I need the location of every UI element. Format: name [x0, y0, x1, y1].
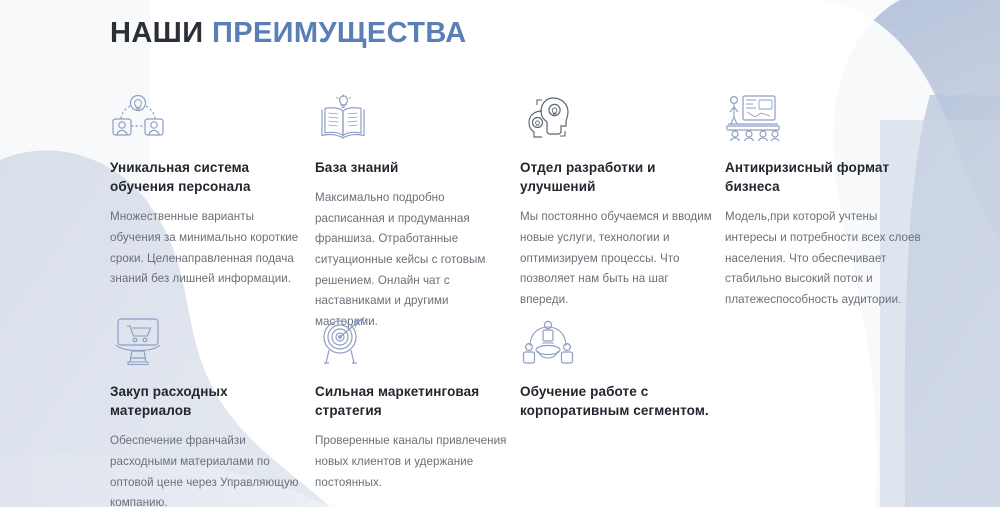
- card-body: Максимально подробно расписанная и проду…: [315, 188, 510, 332]
- presentation-audience-icon: [725, 92, 781, 142]
- advantage-card-unique-training-system: Уникальная система обучения персонала Мн…: [110, 92, 305, 290]
- advantage-card-knowledge-base: База знаний Максимально подробно расписа…: [315, 92, 510, 333]
- card-body: Проверенные каналы привлечения новых кли…: [315, 431, 510, 493]
- advantage-card-corporate-segment-training: Обучение работе с корпоративным сегменто…: [520, 316, 715, 431]
- page-title-accent: ПРЕИМУЩЕСТВА: [212, 17, 467, 49]
- page-title-primary: НАШИ: [110, 17, 203, 49]
- advantage-card-development-department: Отдел разработки и улучшений Мы постоянн…: [520, 92, 715, 310]
- advantage-card-consumables-purchase: Закуп расходных материалов Обеспечение ф…: [110, 316, 305, 507]
- people-lightbulb-network-icon: [110, 92, 166, 142]
- card-title: Отдел разработки и улучшений: [520, 158, 715, 196]
- advantages-section: НАШИ ПРЕИМУЩЕСТВА Уникальная система обу…: [0, 0, 1000, 507]
- open-book-lightbulb-icon: [315, 92, 371, 142]
- card-body: Мы постоянно обучаемся и вводим новые ус…: [520, 207, 715, 310]
- advantage-card-anticrisis-business-format: Антикризисный формат бизнеса Модель,при …: [725, 92, 925, 310]
- online-shopping-cart-monitor-icon: [110, 316, 166, 366]
- card-title: Сильная маркетинговая стратегия: [315, 382, 510, 420]
- team-meeting-table-icon: [520, 316, 576, 366]
- card-title: Закуп расходных материалов: [110, 382, 305, 420]
- heads-lightbulb-icon: [520, 92, 576, 142]
- page-title: НАШИ ПРЕИМУЩЕСТВА: [110, 18, 467, 50]
- card-title: База знаний: [315, 158, 510, 177]
- card-title: Обучение работе с корпоративным сегменто…: [520, 382, 715, 420]
- target-dart-icon: [315, 316, 371, 366]
- card-body: Обеспечение франчайзи расходными материа…: [110, 431, 305, 507]
- card-title: Уникальная система обучения персонала: [110, 158, 305, 196]
- card-body: Множественные варианты обучения за миним…: [110, 207, 305, 290]
- card-title: Антикризисный формат бизнеса: [725, 158, 925, 196]
- advantage-card-marketing-strategy: Сильная маркетинговая стратегия Проверен…: [315, 316, 510, 493]
- card-body: Модель,при которой учтены интересы и пот…: [725, 207, 925, 310]
